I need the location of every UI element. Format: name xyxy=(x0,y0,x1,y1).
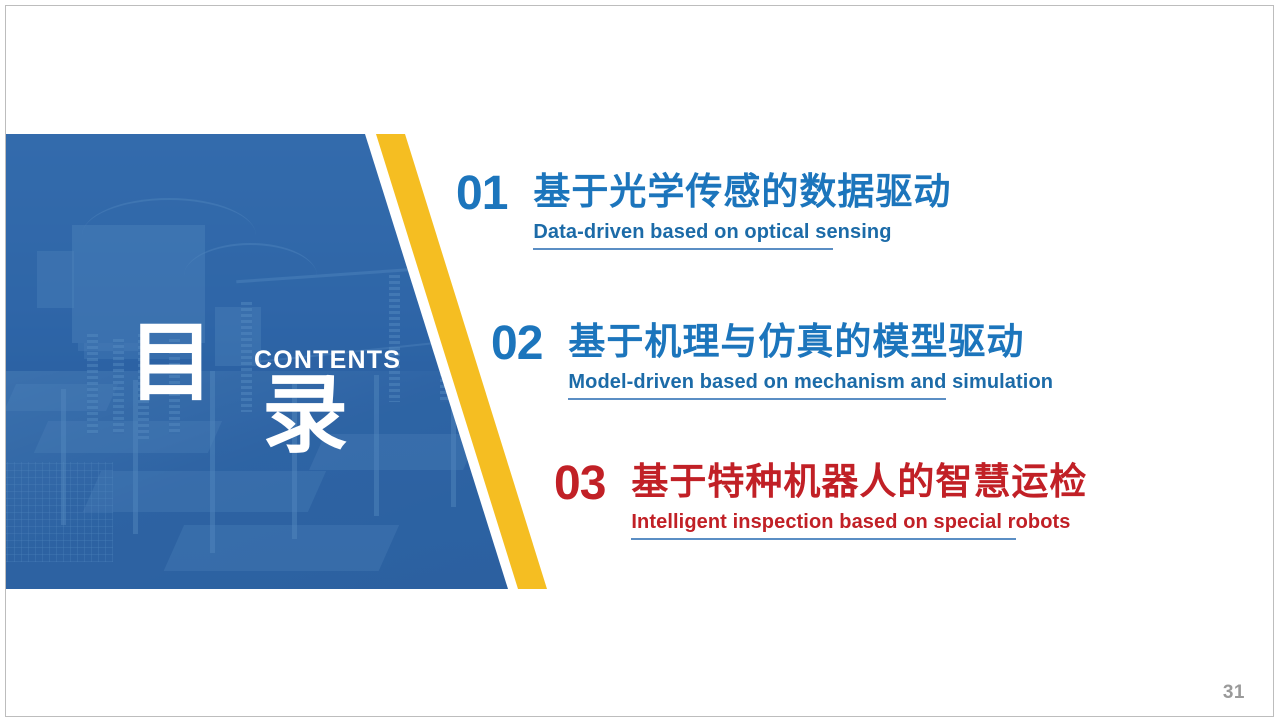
agenda-item-title-cn: 基于机理与仿真的模型驱动 xyxy=(568,318,1053,366)
agenda-item-text: 基于光学传感的数据驱动 Data-driven based on optical… xyxy=(533,168,951,245)
agenda-item-number: 01 xyxy=(456,168,507,220)
agenda-item-underline xyxy=(568,398,946,400)
agenda-item-underline xyxy=(631,538,1016,540)
agenda-item-01[interactable]: 01 基于光学传感的数据驱动 Data-driven based on opti… xyxy=(456,168,951,245)
agenda-item-subtitle-wrap: Intelligent inspection based on special … xyxy=(631,509,1070,535)
agenda-item-title-en: Intelligent inspection based on special … xyxy=(631,511,1070,533)
agenda-item-subtitle-wrap: Data-driven based on optical sensing xyxy=(533,219,891,245)
presentation-slide: 目 CONTENTS 录 01 基于光学传感的数据驱动 Data-driven … xyxy=(5,5,1274,717)
agenda-item-text: 基于机理与仿真的模型驱动 Model-driven based on mecha… xyxy=(568,318,1053,395)
contents-cn-char-2: 录 xyxy=(262,372,348,458)
agenda-item-underline xyxy=(533,248,833,250)
agenda-item-title-cn: 基于特种机器人的智慧运检 xyxy=(631,458,1087,506)
agenda-item-03[interactable]: 03 基于特种机器人的智慧运检 Intelligent inspection b… xyxy=(554,458,1087,535)
page-number: 31 xyxy=(1223,682,1245,704)
agenda-item-title-cn: 基于光学传感的数据驱动 xyxy=(533,168,951,216)
agenda-item-subtitle-wrap: Model-driven based on mechanism and simu… xyxy=(568,369,1053,395)
agenda-list: 01 基于光学传感的数据驱动 Data-driven based on opti… xyxy=(446,156,1236,586)
agenda-item-number: 03 xyxy=(554,458,605,510)
contents-heading: 目 CONTENTS 录 xyxy=(128,324,428,464)
agenda-item-title-en: Model-driven based on mechanism and simu… xyxy=(568,371,1053,393)
agenda-item-02[interactable]: 02 基于机理与仿真的模型驱动 Model-driven based on me… xyxy=(491,318,1053,395)
contents-cn-char-1: 目 xyxy=(128,320,214,406)
agenda-item-title-en: Data-driven based on optical sensing xyxy=(533,221,891,243)
agenda-item-number: 02 xyxy=(491,318,542,370)
agenda-item-text: 基于特种机器人的智慧运检 Intelligent inspection base… xyxy=(631,458,1087,535)
